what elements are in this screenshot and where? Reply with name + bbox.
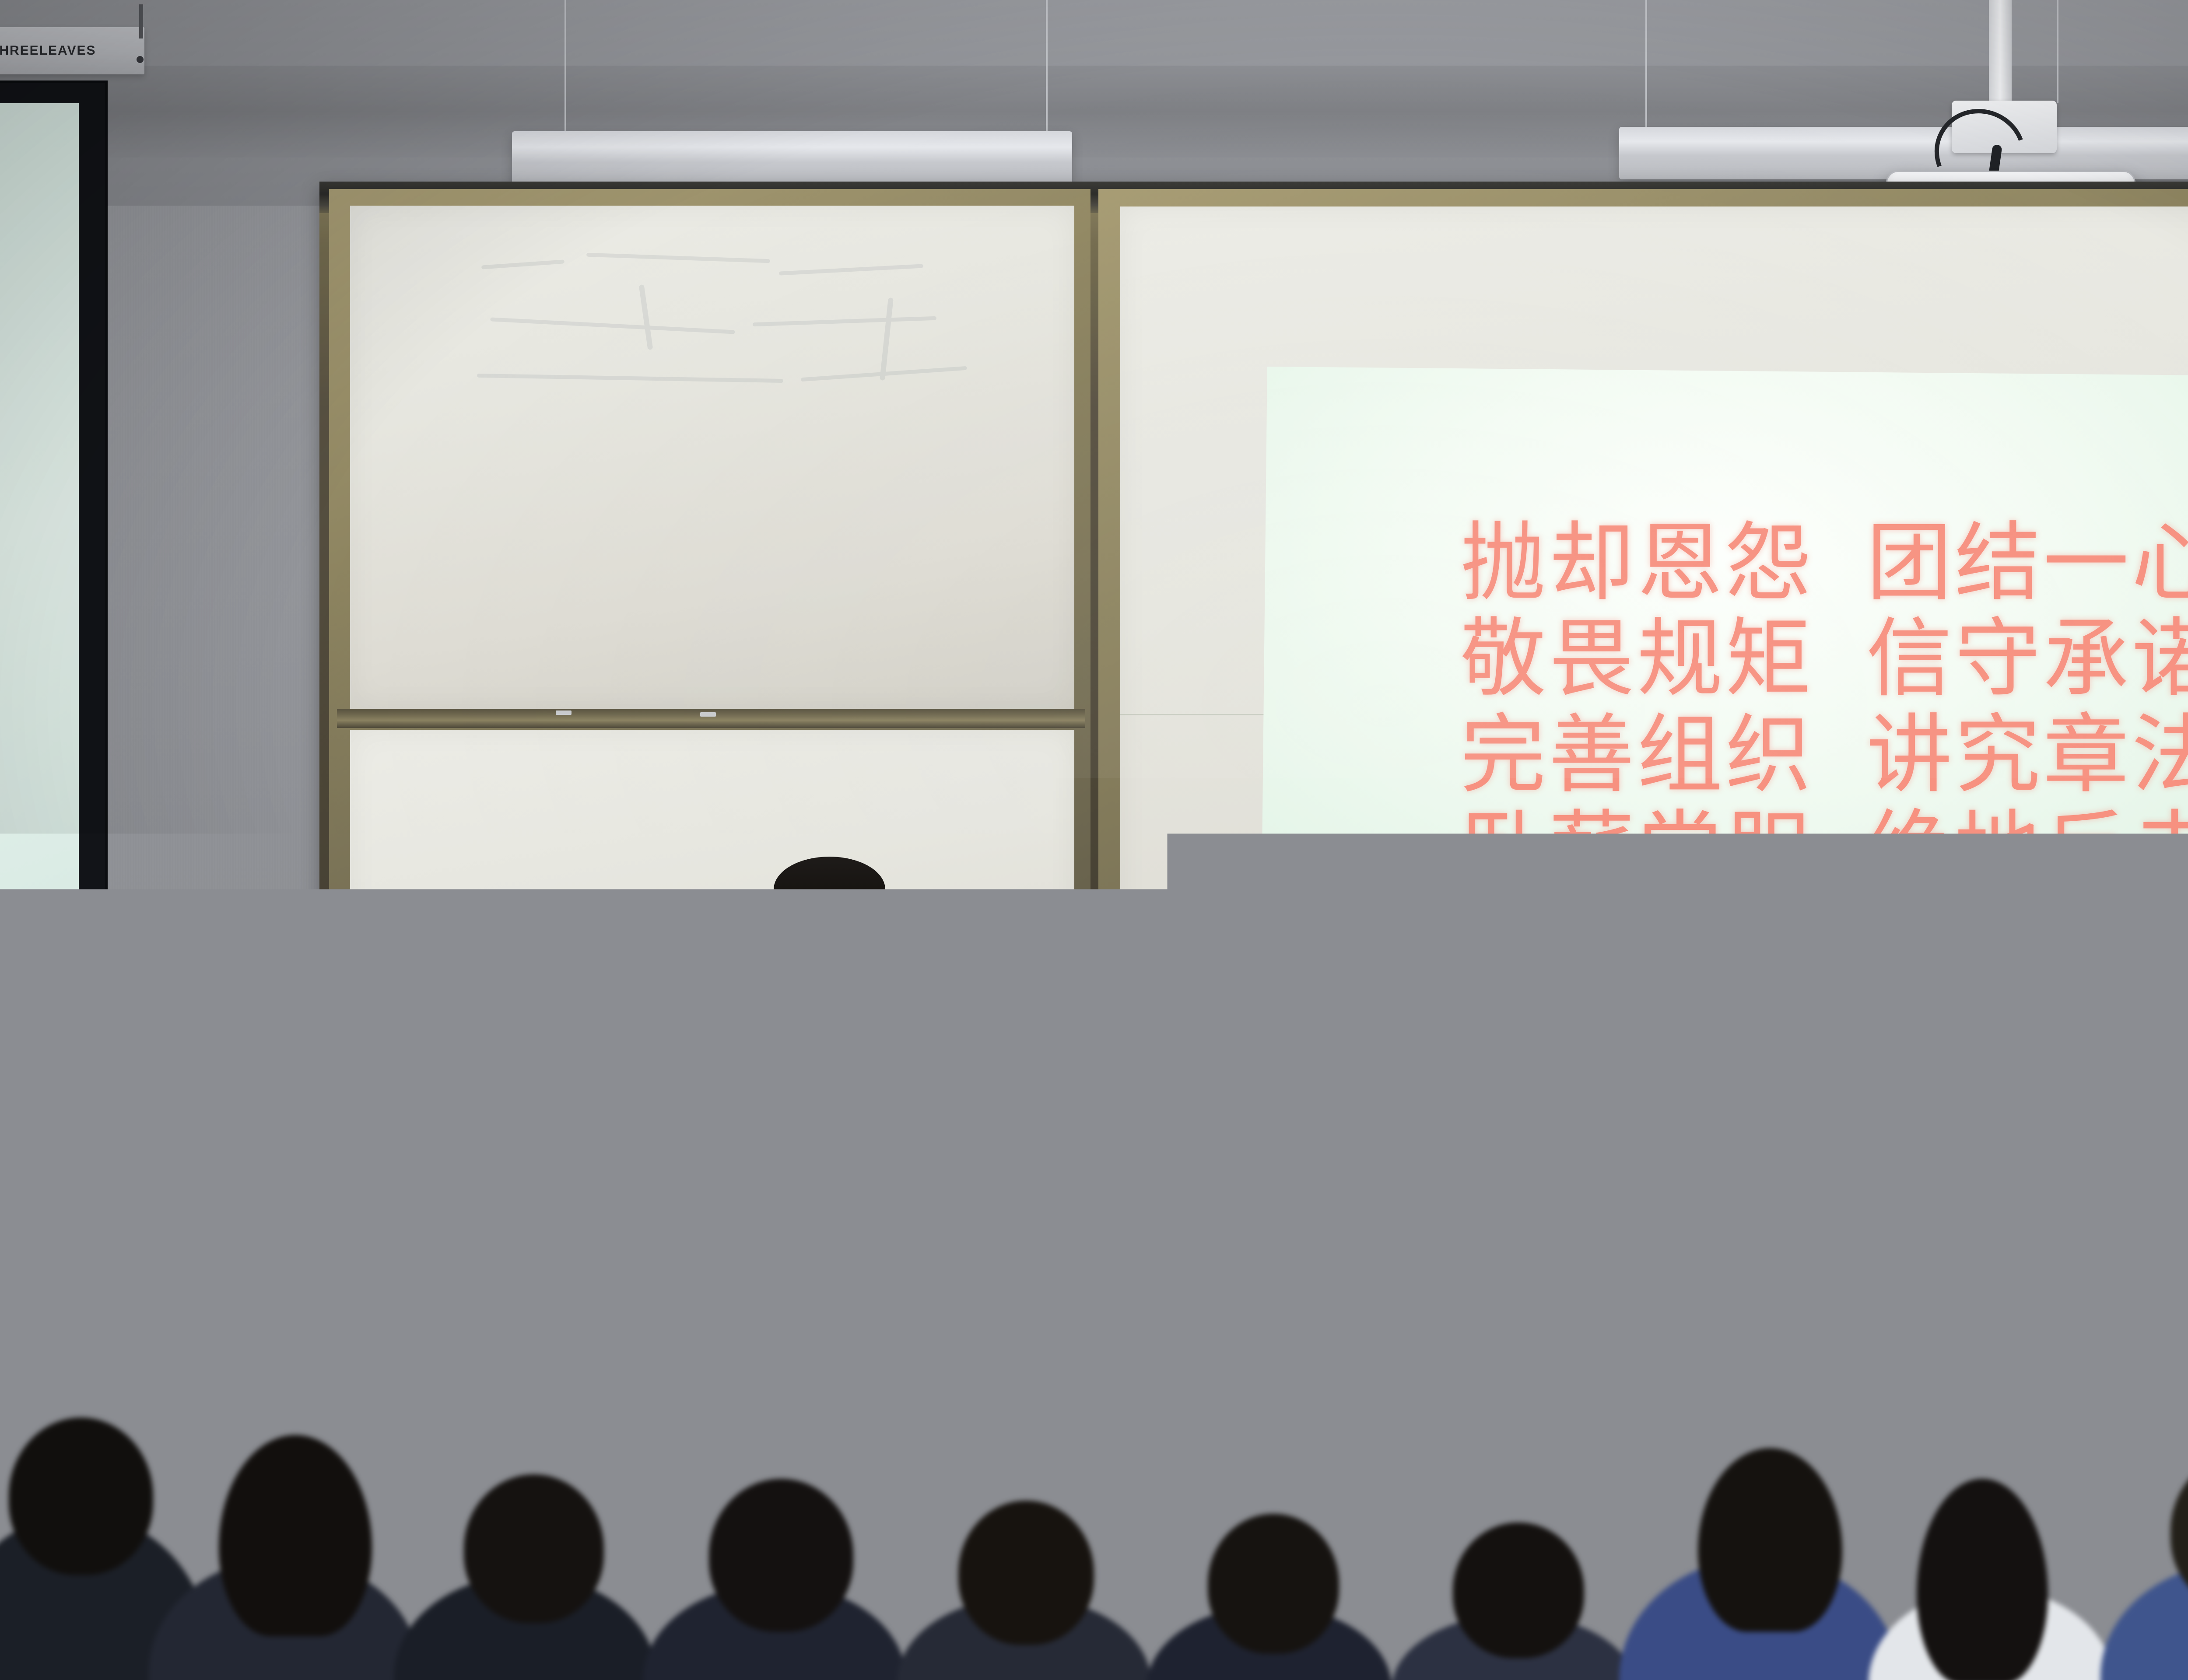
slide-line-2-right: 信守承诺 [1866, 611, 2188, 707]
lecture-hall-photo: THREELEAVES 抛却恩怨 [0, 0, 2188, 1680]
audience-head [1453, 1522, 1584, 1658]
lectern-engraved-text: 山东大学 [1890, 1245, 2079, 1298]
slide-text-block: 抛却恩怨 团结一心 敬畏规矩 信守承诺 完善组织 讲究章法 卧薪尝胆 绝地反击 [1260, 367, 2188, 1035]
speaker-hair [774, 857, 885, 922]
projector-mount-pole [1989, 0, 2012, 109]
audience-head [709, 1479, 853, 1632]
slide-line-1: 抛却恩怨 团结一心 [1260, 515, 2188, 612]
audience-long-hair [1698, 1448, 1842, 1632]
screen-housing: THREELEAVES [0, 27, 144, 74]
slide-line-3: 完善组织 讲究章法 [1260, 707, 2188, 804]
secondary-screen-surface [0, 103, 79, 1067]
hanging-bag [245, 1177, 319, 1308]
audience-shoulders [2100, 1562, 2188, 1680]
slide-line-3-left: 完善组织 [1460, 707, 1814, 804]
whiteboard-clip-b [700, 712, 716, 717]
audience-head [958, 1501, 1094, 1645]
whiteboard-left-upper-face [350, 206, 1074, 709]
slide-line-4-left: 卧薪尝胆 [1460, 804, 1814, 900]
audience-long-hair [1917, 1479, 2048, 1680]
audience-head [9, 1417, 153, 1575]
slide-line-4-right: 绝地反击 [1866, 804, 2188, 900]
audience-group-near [0, 1369, 2188, 1680]
light-wire-left-b [1046, 0, 1048, 133]
slide-line-2: 敬畏规矩 信守承诺 [1260, 611, 2188, 707]
speaker-teeth [822, 952, 848, 958]
speaker-hand [814, 1063, 875, 1137]
cabinet-cap-rail-main [271, 1183, 2188, 1195]
suspended-light-left [512, 131, 1072, 188]
whiteboard-clip-a [556, 710, 572, 715]
projected-slide: 抛却恩怨 团结一心 敬畏规矩 信守承诺 完善组织 讲究章法 卧薪尝胆 绝地反击 [1260, 367, 2188, 1035]
screen-brand-label: THREELEAVES [0, 43, 96, 58]
light-wire-left-a [565, 0, 566, 141]
whiteboard-residual-writing [455, 245, 1006, 429]
audience-head [464, 1474, 604, 1623]
slide-line-3-right: 讲究章法 [1866, 707, 2188, 804]
secondary-projection-screen [0, 83, 105, 1133]
slide-line-4: 卧薪尝胆 绝地反击 [1260, 804, 2188, 900]
cabinet-cap-rail-left [0, 1201, 271, 1212]
slide-line-1-right: 团结一心 [1866, 515, 2188, 612]
light-wire-right-a [1645, 0, 1647, 131]
slide-line-1-left: 抛却恩怨 [1460, 515, 1814, 612]
light-wire-right-b [2057, 0, 2058, 103]
whiteboard-left-divider [337, 709, 1085, 728]
audience-long-hair [219, 1435, 372, 1636]
secondary-screen-base [0, 1067, 79, 1109]
screen-hook [139, 4, 143, 38]
audience-head [1208, 1514, 1339, 1654]
slide-line-2-left: 敬畏规矩 [1460, 611, 1814, 707]
screen-screw [137, 56, 144, 63]
